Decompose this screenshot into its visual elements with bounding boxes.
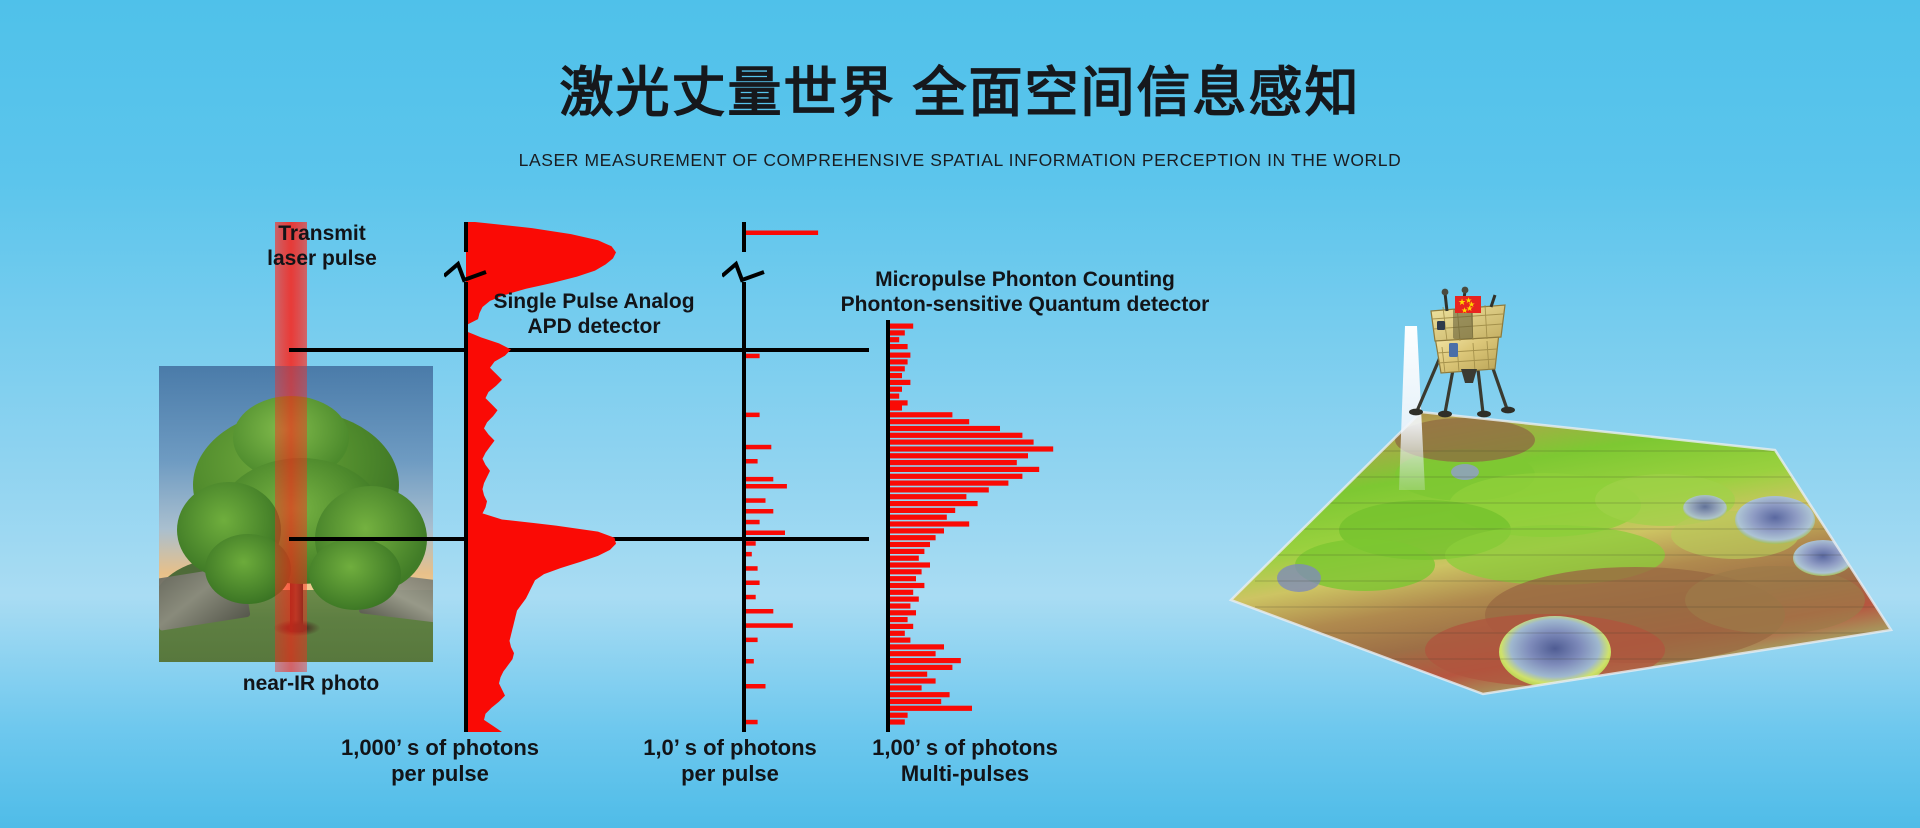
photon-return-bar (888, 542, 930, 547)
photon-return-bar (888, 576, 916, 581)
china-flag-icon: ★ ★ ★ ★ ★ (1455, 296, 1481, 313)
photon-return-bar (888, 651, 936, 656)
photon-return-bar (888, 501, 978, 506)
photon-return-bar (888, 494, 966, 499)
photon-return-bar (888, 330, 905, 335)
photon-return-bar (888, 665, 952, 670)
photon-return-bar (888, 359, 908, 364)
photon-return-bar (888, 515, 947, 520)
lander-antenna-dish (1462, 287, 1469, 294)
photon-return-bar (888, 446, 1053, 451)
photon-return-bar (888, 706, 972, 711)
photon-return-bar (888, 678, 936, 683)
photon-return-bar (888, 487, 989, 492)
lander-antenna-dish (1442, 289, 1449, 296)
photon-return-bar (888, 624, 913, 629)
lander-instrument (1437, 321, 1445, 330)
photons-per-pulse-caption-1: 1,000’ s of photons per pulse (300, 735, 580, 787)
photon-return-bar (888, 699, 941, 704)
transmit-laser-pulse-label: Transmit laser pulse (232, 222, 412, 272)
photon-return-bar (888, 426, 1000, 431)
photon-return-bar (744, 638, 758, 643)
banner-root: 激光丈量世界 全面空间信息感知 LASER MEASUREMENT OF COM… (0, 0, 1920, 828)
photon-return-bar (744, 720, 758, 725)
photon-return-bar (744, 509, 773, 514)
photon-return-bar (888, 460, 1017, 465)
photon-return-bar (744, 354, 760, 359)
photons-per-pulse-caption-2: 1,0’ s of photons per pulse (615, 735, 845, 787)
zigzag-axis-break-icon (444, 246, 490, 292)
photon-return-bar (888, 353, 910, 358)
photon-return-bar (888, 453, 1028, 458)
photon-return-bar (744, 684, 766, 689)
3d-dem-terrain (1215, 300, 1895, 700)
photon-return-bar (888, 692, 950, 697)
photon-return-bar (744, 531, 785, 536)
photon-return-bar (888, 569, 922, 574)
photon-return-bar (744, 484, 787, 489)
photon-return-bar (888, 658, 961, 663)
photon-return-bar (744, 231, 818, 236)
photon-return-bar (888, 535, 936, 540)
photon-return-bar (888, 344, 908, 349)
photon-return-bar (888, 440, 1034, 445)
photon-return-bar (744, 413, 760, 418)
photon-return-bar (888, 387, 902, 392)
photon-return-bar (744, 566, 758, 571)
photon-return-bar (744, 498, 766, 503)
photon-return-bar (888, 638, 910, 643)
photon-return-bar (888, 590, 913, 595)
photon-return-bar (888, 528, 944, 533)
photo-tree-canopy (309, 538, 401, 610)
lander-instrument (1449, 343, 1458, 357)
photon-return-bar (888, 366, 905, 371)
page-title: 激光丈量世界 全面空间信息感知 (0, 48, 1920, 127)
photon-return-bar (744, 445, 771, 450)
photon-return-bar (888, 562, 930, 567)
photon-return-bar (744, 623, 793, 628)
photon-return-bar (888, 549, 924, 554)
photon-return-bar (888, 583, 924, 588)
photon-return-bar (888, 433, 1022, 438)
laser-beam-band (275, 222, 307, 672)
photon-return-bar (744, 581, 760, 586)
photon-return-bar (888, 610, 916, 615)
photon-return-bar (888, 597, 919, 602)
photon-return-bar (888, 556, 919, 561)
photon-return-bar (744, 609, 773, 614)
zigzag-axis-break-icon (722, 246, 768, 292)
apd-detector-label: Single Pulse Analog APD detector (464, 290, 724, 340)
photon-return-bar (888, 521, 969, 526)
lander-footpads (1409, 407, 1515, 418)
photon-return-bar (888, 508, 955, 513)
photon-return-bar (888, 644, 944, 649)
photon-return-bar (888, 373, 902, 378)
photon-return-bar (888, 631, 905, 636)
page-subtitle: LASER MEASUREMENT OF COMPREHENSIVE SPATI… (0, 150, 1920, 171)
near-ir-photo-label: near-IR photo (196, 672, 426, 697)
lander-engine-nozzle (1461, 369, 1477, 383)
photon-return-bar (888, 672, 927, 677)
photon-return-bar (888, 713, 908, 718)
photon-return-bar (888, 481, 1008, 486)
photon-return-bar (888, 419, 969, 424)
photon-return-bar (888, 324, 913, 329)
photon-return-bar (888, 380, 910, 385)
photon-return-bar (888, 474, 1022, 479)
photon-return-bar (888, 405, 902, 410)
photons-multipulse-caption-3: 1,00’ s of photons Multi-pulses (845, 735, 1085, 787)
photon-return-bar (888, 400, 908, 405)
photon-return-bar (888, 685, 922, 690)
photon-return-bar (744, 459, 758, 464)
photon-return-bar (744, 477, 773, 482)
photon-return-bar (888, 617, 908, 622)
photon-return-bar (744, 520, 760, 525)
photon-return-bar (888, 412, 952, 417)
photon-return-bar (888, 603, 910, 608)
photon-return-bar (888, 719, 905, 724)
micropulse-detector-label: Micropulse Phonton Counting Phonton-sens… (790, 268, 1260, 318)
photon-return-bar (888, 467, 1039, 472)
